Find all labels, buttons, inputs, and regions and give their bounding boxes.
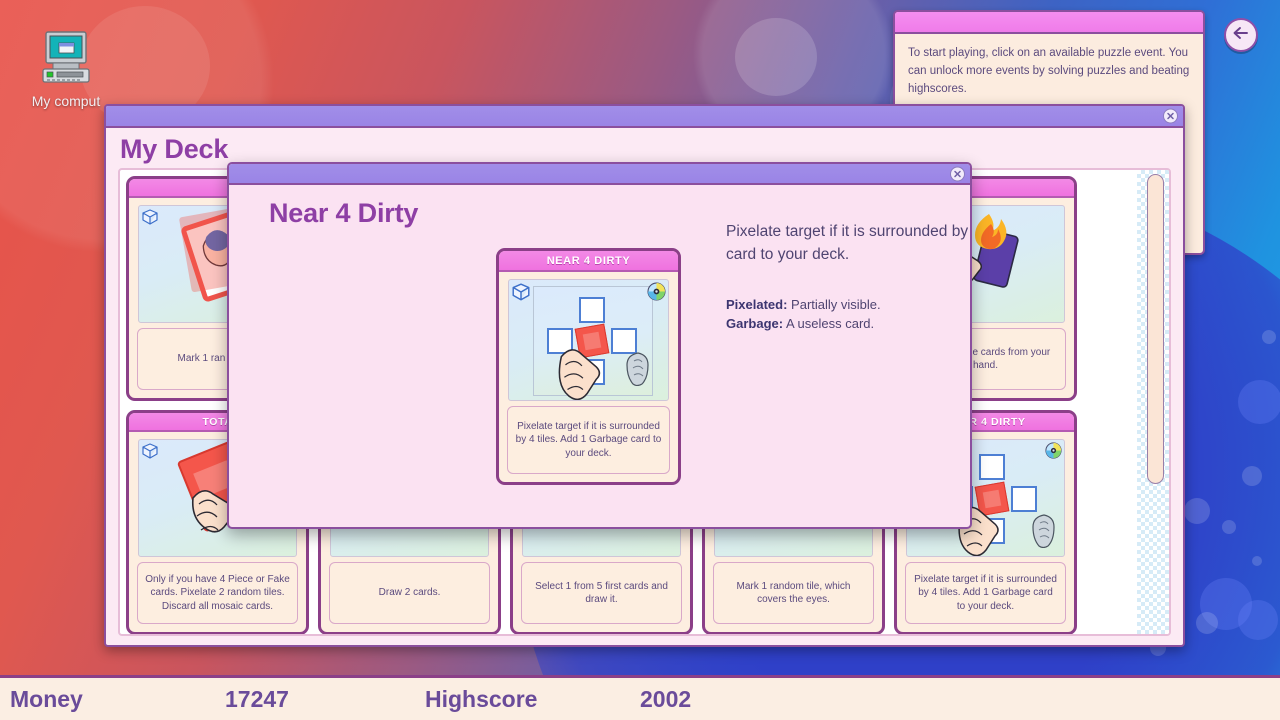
bokeh-decoration xyxy=(1184,498,1210,524)
bokeh-decoration xyxy=(1196,612,1218,634)
money-label: Money xyxy=(10,686,225,713)
detail-text-block: Pixelate target if it is surrounded by 4… xyxy=(726,220,972,334)
my-computer-icon xyxy=(35,30,97,88)
tile-icon xyxy=(141,442,159,465)
card-detail-modal: Near 4 Dirty NEAR 4 DIRTY xyxy=(227,162,972,529)
tile-icon xyxy=(141,208,159,231)
glossary-term: Pixelated: xyxy=(726,297,787,312)
statue-icon xyxy=(625,352,651,386)
my-deck-titlebar[interactable] xyxy=(106,106,1183,128)
bokeh-decoration xyxy=(735,18,817,96)
bokeh-decoration xyxy=(1238,600,1278,640)
detail-modal-titlebar[interactable] xyxy=(229,164,970,185)
back-button[interactable] xyxy=(1224,18,1258,52)
deck-scrollbar-thumb[interactable] xyxy=(1147,174,1164,484)
card-description: Only if you have 4 Piece or Fake cards. … xyxy=(137,562,298,624)
highscore-label: Highscore xyxy=(425,686,640,713)
card-description: Mark 1 random tile, which covers the eye… xyxy=(713,562,874,624)
glossary-meaning: Partially visible. xyxy=(791,297,881,312)
tile-icon xyxy=(511,282,531,307)
bokeh-decoration xyxy=(1242,466,1262,486)
bokeh-decoration xyxy=(1222,520,1236,534)
glossary-meaning: A useless card. xyxy=(786,316,874,331)
card-description: Draw 2 cards. xyxy=(329,562,490,624)
detail-card-title: NEAR 4 DIRTY xyxy=(499,251,678,272)
disc-icon xyxy=(647,282,666,306)
detail-card-description: Pixelate target if it is surrounded by 4… xyxy=(507,406,670,474)
disc-icon xyxy=(1045,442,1062,464)
detail-card-art xyxy=(508,279,669,401)
my-deck-close-button[interactable] xyxy=(1163,109,1178,124)
card-description: Select 1 from 5 first cards and draw it. xyxy=(521,562,682,624)
hint-window-titlebar[interactable] xyxy=(895,12,1203,34)
detail-modal-close-button[interactable] xyxy=(950,166,965,181)
arrow-left-icon xyxy=(1232,26,1250,45)
glossary-item: Pixelated: Partially visible. xyxy=(726,295,972,315)
highscore-value: 2002 xyxy=(640,686,840,713)
glossary-item: Garbage: A useless card. xyxy=(726,314,972,334)
hint-window-text: To start playing, click on an available … xyxy=(895,34,1203,109)
status-bar: Money 17247 Highscore 2002 xyxy=(0,675,1280,720)
detail-description: Pixelate target if it is surrounded by 4… xyxy=(726,220,972,267)
bokeh-decoration xyxy=(1200,578,1252,630)
card-description: Pixelate target if it is surrounded by 4… xyxy=(905,562,1066,624)
bokeh-decoration xyxy=(1262,330,1276,344)
bokeh-decoration xyxy=(1238,380,1280,424)
desktop-icon-my-computer[interactable]: My comput xyxy=(18,30,114,109)
statue-icon xyxy=(1031,514,1057,548)
bokeh-decoration xyxy=(1252,556,1262,566)
desktop-icon-label: My comput xyxy=(18,93,114,109)
deck-scrollbar[interactable] xyxy=(1147,174,1164,632)
glossary-list: Pixelated: Partially visible. Garbage: A… xyxy=(726,295,972,334)
close-icon xyxy=(1166,112,1175,121)
close-icon xyxy=(953,169,962,178)
money-value: 17247 xyxy=(225,686,425,713)
glossary-term: Garbage: xyxy=(726,316,783,331)
detail-card-preview: NEAR 4 DIRTY xyxy=(496,248,681,485)
